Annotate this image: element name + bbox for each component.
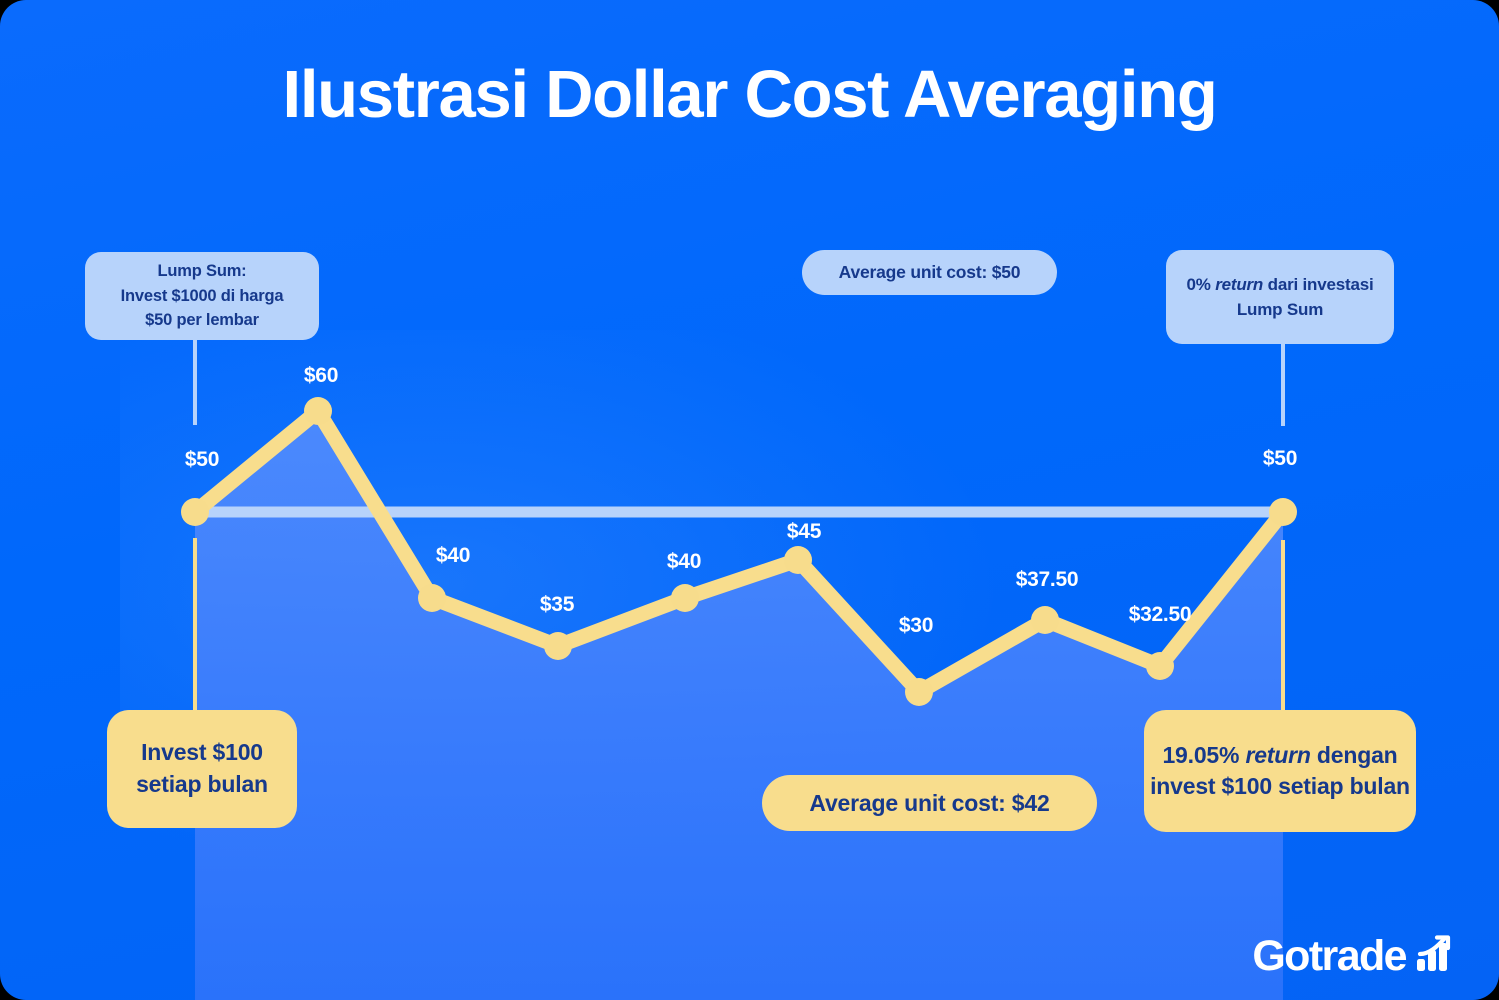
callout-average-unit-cost-dca: Average unit cost: $42 xyxy=(762,775,1097,831)
callout-dca-return: 19.05% return dengan invest $100 setiap … xyxy=(1144,710,1416,832)
callout-average-unit-cost-lump: Average unit cost: $50 xyxy=(802,250,1057,295)
data-label-p4: $35 xyxy=(540,593,574,617)
data-label-p8: $37.50 xyxy=(1016,568,1078,592)
callout-lump-sum-line2: Invest $1000 di harga xyxy=(121,284,284,308)
data-label-p6: $45 xyxy=(787,520,821,544)
data-point-marker[interactable] xyxy=(1269,498,1297,526)
brand-wordmark: Gotrade xyxy=(1252,935,1406,978)
infographic-canvas: Ilustrasi Dollar Cost Averaging $50 $60 xyxy=(0,0,1499,1000)
callout-invest-monthly-line1: Invest $100 xyxy=(136,737,268,769)
callout-zero-return-emphasis: return xyxy=(1215,275,1263,294)
data-point-marker[interactable] xyxy=(544,632,572,660)
data-label-p7: $30 xyxy=(899,614,933,638)
line-chart xyxy=(0,0,1499,1000)
callout-lump-sum-line1: Lump Sum: xyxy=(121,259,284,283)
bar-chart-arrow-icon xyxy=(1415,935,1455,975)
callout-lump-sum: Lump Sum: Invest $1000 di harga $50 per … xyxy=(85,252,319,340)
callout-lump-sum-line3: $50 per lembar xyxy=(121,308,284,332)
data-point-marker[interactable] xyxy=(671,584,699,612)
callout-invest-monthly-line2: setiap bulan xyxy=(136,769,268,801)
callout-dca-return-pre: 19.05% xyxy=(1162,742,1245,768)
data-label-p10: $50 xyxy=(1263,447,1297,471)
callout-dca-return-emphasis: return xyxy=(1245,742,1310,768)
callout-invest-monthly: Invest $100 setiap bulan xyxy=(107,710,297,828)
callout-zero-return: 0% return dari investasi Lump Sum xyxy=(1166,250,1394,344)
callout-zero-return-pre: 0% xyxy=(1186,275,1215,294)
data-point-marker[interactable] xyxy=(304,397,332,425)
connector-lumpsum-top xyxy=(193,330,197,425)
data-point-marker[interactable] xyxy=(905,678,933,706)
data-point-marker[interactable] xyxy=(181,498,209,526)
data-point-marker[interactable] xyxy=(1031,606,1059,634)
data-label-p5: $40 xyxy=(667,550,701,574)
brand-logo: Gotrade xyxy=(1252,935,1455,978)
data-point-marker[interactable] xyxy=(1146,652,1174,680)
data-label-p9: $32.50 xyxy=(1129,603,1191,627)
data-point-marker[interactable] xyxy=(784,546,812,574)
connector-invest-bottom xyxy=(193,538,197,713)
data-label-p3: $40 xyxy=(436,544,470,568)
data-point-marker[interactable] xyxy=(418,584,446,612)
connector-zeroreturn-top xyxy=(1281,334,1285,426)
data-label-p1: $50 xyxy=(185,448,219,472)
data-label-p2: $60 xyxy=(304,364,338,388)
connector-dcareturn-bottom xyxy=(1281,540,1285,712)
chart-area-fill xyxy=(195,411,1283,1000)
